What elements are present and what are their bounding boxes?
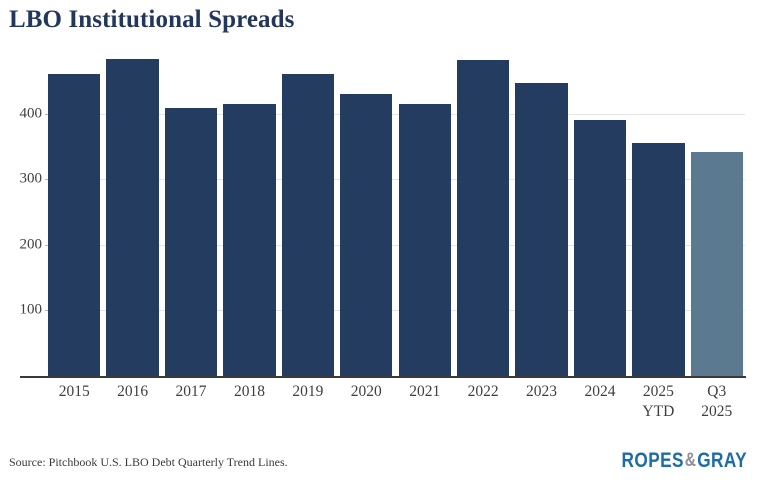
x-axis-label-line: 2023 [526, 383, 557, 400]
bar-slot [48, 48, 100, 376]
chart-page: LBO Institutional Spreads 100200300400 2… [0, 0, 758, 484]
x-axis-label-line: 2022 [468, 383, 499, 400]
bar-slot [457, 48, 509, 376]
x-axis-label: 2018 [220, 382, 278, 402]
x-axis-label-line: 2019 [292, 383, 323, 400]
x-axis-label: 2016 [103, 382, 161, 402]
bar[interactable] [165, 108, 217, 376]
y-axis-tick-label: 400 [6, 106, 42, 121]
x-axis-label: 2020 [337, 382, 395, 402]
bar[interactable] [340, 94, 392, 376]
x-axis-label: 2017 [162, 382, 220, 402]
x-axis-label: 2025YTD [629, 382, 687, 422]
x-axis-label-line: YTD [629, 402, 687, 422]
bar[interactable] [48, 74, 100, 376]
x-axis-label-line: 2021 [409, 383, 440, 400]
x-axis-label-line: 2020 [351, 383, 382, 400]
x-axis-label: 2023 [512, 382, 570, 402]
y-axis-tick-label: 300 [6, 172, 42, 187]
bar-slot [574, 48, 626, 376]
x-axis-label-line: Q3 [707, 383, 726, 400]
x-axis-label-line: 2024 [584, 383, 615, 400]
plot-area: 100200300400 [0, 48, 758, 380]
x-axis-label-line: 2025 [643, 383, 674, 400]
bar[interactable] [574, 120, 626, 376]
bar-slot [282, 48, 334, 376]
source-note: Source: Pitchbook U.S. LBO Debt Quarterl… [9, 455, 288, 470]
x-axis-line [20, 376, 746, 378]
logo-ampersand: & [684, 450, 697, 472]
ropes-gray-logo: ROPES&GRAY [622, 449, 747, 473]
bar-slot [691, 48, 743, 376]
x-axis-label-line: 2025 [688, 402, 746, 422]
x-axis-label-line: 2015 [59, 383, 90, 400]
bar[interactable] [691, 152, 743, 376]
x-axis-label: 2022 [454, 382, 512, 402]
x-axis-label-line: 2016 [117, 383, 148, 400]
bar-slot [515, 48, 567, 376]
bar[interactable] [457, 60, 509, 376]
x-axis-label: 2024 [571, 382, 629, 402]
x-axis-label: 2015 [45, 382, 103, 402]
x-axis-label: 2019 [279, 382, 337, 402]
page-title: LBO Institutional Spreads [9, 6, 294, 34]
bar-slot [340, 48, 392, 376]
logo-word-ropes: ROPES [622, 449, 684, 473]
bar[interactable] [399, 104, 451, 376]
bar[interactable] [515, 83, 567, 376]
y-axis-tick-label: 100 [6, 303, 42, 318]
bar-series [45, 48, 746, 376]
x-axis-label-line: 2018 [234, 383, 265, 400]
x-axis-labels: 2015201620172018201920202021202220232024… [45, 382, 746, 442]
x-axis-label-line: 2017 [176, 383, 207, 400]
bar-slot [632, 48, 684, 376]
y-axis-tick-label: 200 [6, 237, 42, 252]
bar-slot [106, 48, 158, 376]
bar[interactable] [223, 104, 275, 376]
bar[interactable] [106, 59, 158, 376]
bar[interactable] [632, 143, 684, 376]
bar-slot [165, 48, 217, 376]
bar-slot [223, 48, 275, 376]
x-axis-label: Q32025 [688, 382, 746, 422]
logo-word-gray: GRAY [697, 449, 747, 473]
bar[interactable] [282, 74, 334, 376]
x-axis-label: 2021 [396, 382, 454, 402]
bar-slot [399, 48, 451, 376]
